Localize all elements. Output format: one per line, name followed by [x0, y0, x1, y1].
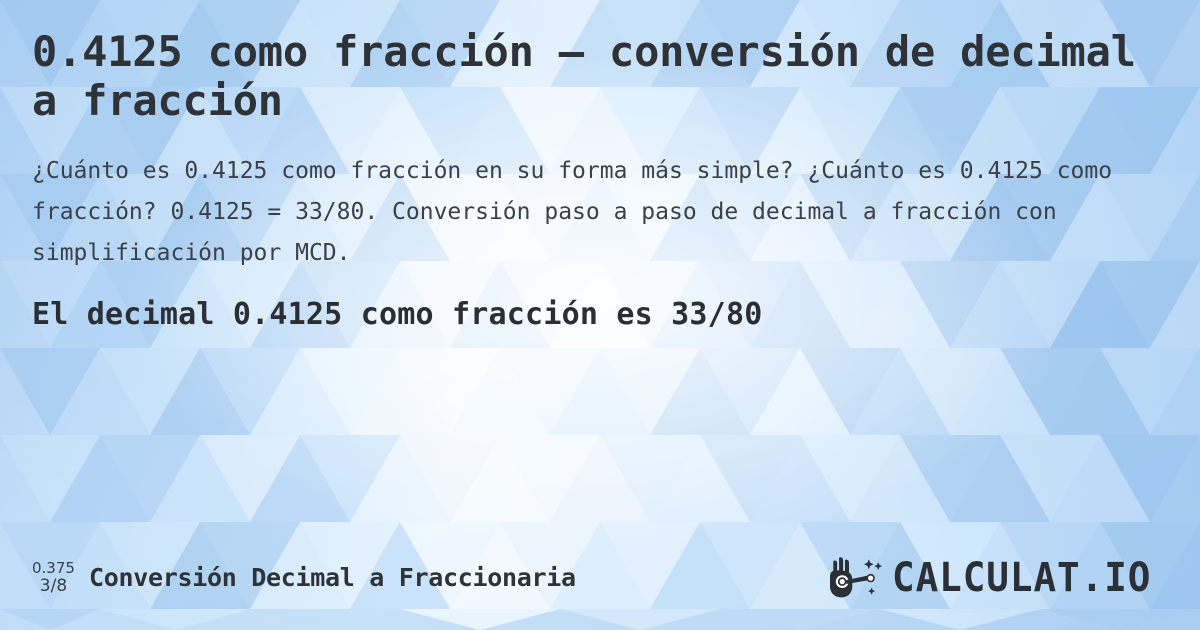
hand-magic-wand-icon: [826, 556, 888, 600]
decimal-fraction-mark-icon: 0.375 3/8: [32, 560, 75, 596]
answer-statement: El decimal 0.4125 como fracción es 33/80: [32, 297, 1168, 332]
logo-wordmark: CALCULAT.IO: [892, 558, 1151, 598]
card-content: 0.4125 como fracción – conversión de dec…: [0, 0, 1200, 630]
share-card: 0.4125 como fracción – conversión de dec…: [0, 0, 1200, 630]
fraction-mark-decimal: 0.375: [32, 560, 75, 577]
page-title: 0.4125 como fracción – conversión de dec…: [32, 28, 1152, 125]
calculatio-logo[interactable]: CALCULAT.IO: [826, 556, 1168, 600]
fraction-mark-fraction: 3/8: [40, 577, 67, 596]
description-text: ¿Cuánto es 0.4125 como fracción en su fo…: [32, 151, 1168, 274]
site-tagline: Conversión Decimal a Fraccionaria: [89, 563, 576, 592]
site-brand: 0.375 3/8 Conversión Decimal a Fracciona…: [32, 560, 576, 596]
footer-bar: 0.375 3/8 Conversión Decimal a Fracciona…: [0, 554, 1200, 602]
